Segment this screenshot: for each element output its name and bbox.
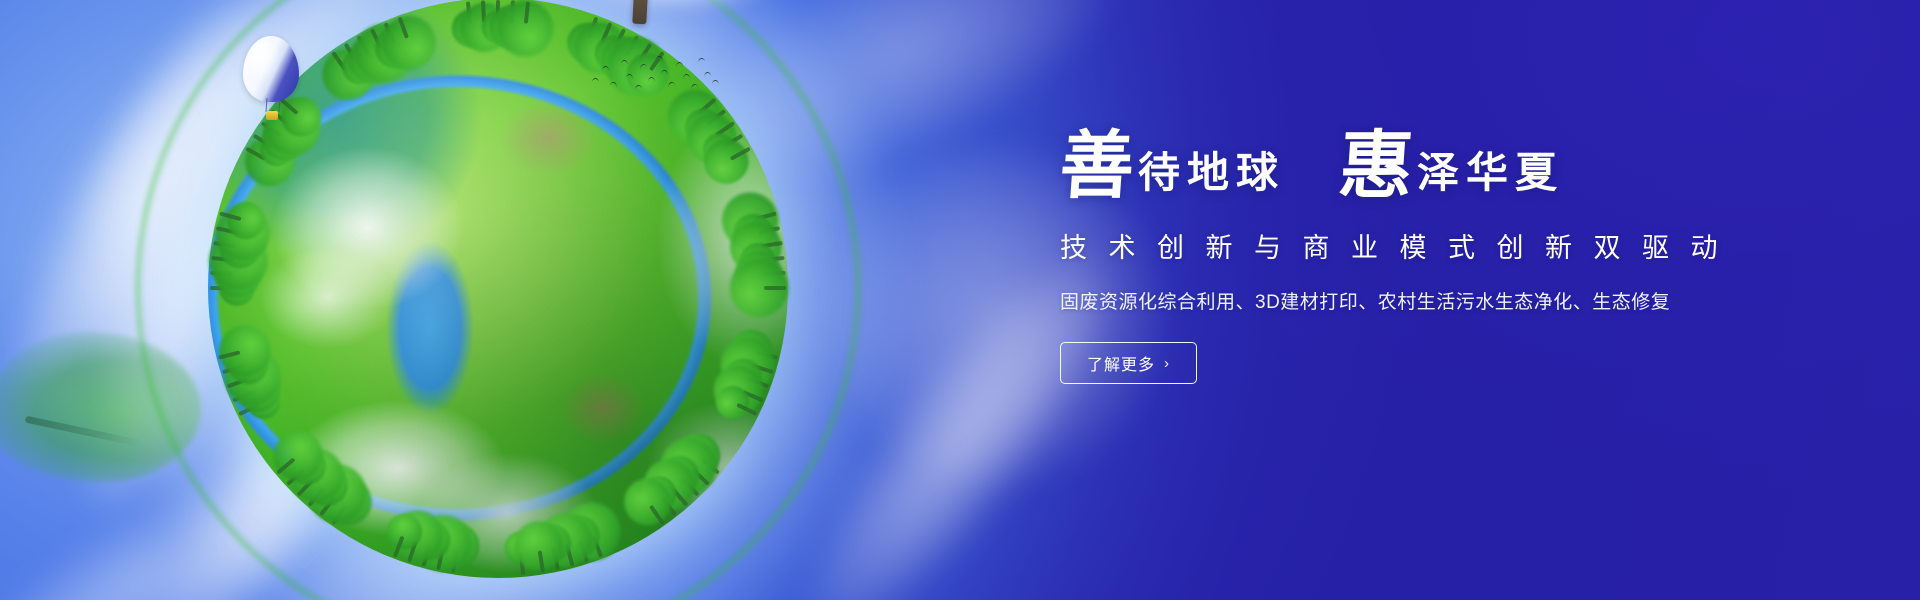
bird-icon bbox=[661, 69, 669, 75]
bird-icon bbox=[626, 74, 633, 80]
hero-tagline: 固废资源化综合利用、3D建材打印、农村生活污水生态净化、生态修复 bbox=[1060, 287, 1680, 314]
hero-content: 善 待地球 惠 泽华夏 技 术 创 新 与 商 业 模 式 创 新 双 驱 动 … bbox=[1060, 132, 1680, 384]
chevron-right-icon: › bbox=[1164, 356, 1170, 371]
bird-icon bbox=[683, 74, 690, 80]
bird-icon bbox=[635, 84, 643, 90]
balloon-ropes bbox=[266, 98, 281, 112]
balloon-basket bbox=[266, 111, 278, 120]
bird-icon bbox=[609, 81, 617, 88]
bird-icon bbox=[639, 63, 647, 70]
page-title: 善 待地球 惠 泽华夏 bbox=[1060, 132, 1680, 200]
headline-char-2: 惠 bbox=[1337, 132, 1416, 200]
learn-more-label: 了解更多 bbox=[1087, 351, 1155, 375]
bird-icon bbox=[704, 72, 712, 78]
tree-trunk bbox=[632, 0, 649, 24]
bird-icon bbox=[592, 78, 600, 84]
bird-icon bbox=[676, 62, 683, 67]
bird-icon bbox=[621, 59, 629, 65]
bird-icon bbox=[648, 77, 655, 82]
headline-char-1: 善 bbox=[1058, 132, 1137, 200]
bird-icon bbox=[690, 83, 698, 90]
hero-banner: 善 待地球 惠 泽华夏 技 术 创 新 与 商 业 模 式 创 新 双 驱 动 … bbox=[0, 0, 1920, 600]
large-tree-icon bbox=[580, 0, 810, 38]
tree-mist bbox=[580, 0, 770, 10]
headline-text-1: 待地球 bbox=[1138, 152, 1285, 200]
bird-flock-icon bbox=[588, 52, 718, 96]
hot-air-balloon-icon bbox=[243, 36, 299, 128]
learn-more-button[interactable]: 了解更多 › bbox=[1060, 342, 1197, 384]
bird-icon bbox=[698, 57, 706, 63]
balloon-envelope bbox=[243, 36, 299, 102]
hero-subtitle: 技 术 创 新 与 商 业 模 式 创 新 双 驱 动 bbox=[1060, 226, 1680, 265]
headline-text-2: 泽华夏 bbox=[1417, 152, 1564, 200]
bird-icon bbox=[667, 81, 675, 88]
bird-icon bbox=[655, 55, 663, 62]
bird-icon bbox=[602, 66, 609, 71]
